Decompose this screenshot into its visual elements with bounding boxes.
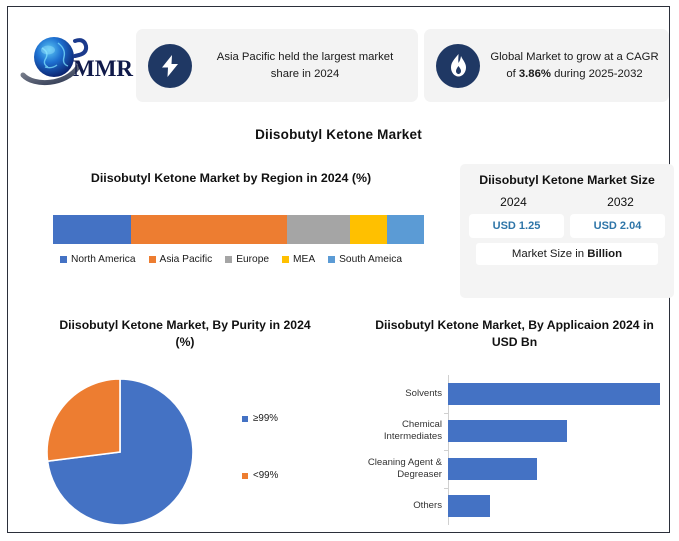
legend-swatch-icon xyxy=(149,256,156,263)
region-legend-item: South Ameica xyxy=(328,254,402,265)
region-segment-asia-pacific xyxy=(131,215,287,244)
region-legend-item: MEA xyxy=(282,254,315,265)
header-badge-market-share: Asia Pacific held the largest market sha… xyxy=(136,29,418,102)
region-legend-label: Europe xyxy=(236,254,269,265)
application-bar-label: Cleaning Agent & Degreaser xyxy=(360,457,448,481)
legend-swatch-icon xyxy=(242,416,248,422)
purity-legend-label: <99% xyxy=(253,470,278,481)
market-size-unit: Market Size in Billion xyxy=(476,243,658,265)
purity-chart-panel: Diisobutyl Ketone Market, By Purity in 2… xyxy=(20,317,350,539)
header: MMR Asia Pacific held the largest market… xyxy=(8,11,669,111)
market-size-year-end: 2032 xyxy=(607,195,634,209)
market-size-values: USD 1.25 USD 2.04 xyxy=(460,214,674,238)
application-bar-rows: SolventsChemical IntermediatesCleaning A… xyxy=(360,375,660,525)
application-bar-label: Solvents xyxy=(360,388,448,400)
application-bar-chart: SolventsChemical IntermediatesCleaning A… xyxy=(360,375,660,525)
region-legend-label: Asia Pacific xyxy=(160,254,213,265)
application-bar-label: Chemical Intermediates xyxy=(360,419,448,443)
application-chart-title: Diisobutyl Ketone Market, By Applicaion … xyxy=(352,317,677,351)
market-size-year-start: 2024 xyxy=(500,195,527,209)
purity-legend-item: <99% xyxy=(242,470,278,481)
region-stacked-bar xyxy=(53,215,424,244)
legend-swatch-icon xyxy=(60,256,67,263)
region-segment-north-america xyxy=(53,215,131,244)
region-legend-item: Asia Pacific xyxy=(149,254,213,265)
application-bar-row: Others xyxy=(360,493,660,519)
region-segment-south-ameica xyxy=(387,215,424,244)
lightning-bolt-icon xyxy=(148,44,192,88)
application-bar-row: Chemical Intermediates xyxy=(360,418,660,444)
region-segment-europe xyxy=(287,215,350,244)
application-bar-fill xyxy=(448,458,537,480)
region-legend-label: MEA xyxy=(293,254,315,265)
application-chart-panel: Diisobutyl Ketone Market, By Applicaion … xyxy=(352,317,677,539)
flame-icon xyxy=(436,44,480,88)
header-badge-market-share-text: Asia Pacific held the largest market sha… xyxy=(202,49,418,82)
region-segment-mea xyxy=(350,215,387,244)
infographic-frame: MMR Asia Pacific held the largest market… xyxy=(7,6,670,533)
axis-tick xyxy=(444,450,449,451)
region-chart-title: Diisobutyl Ketone Market by Region in 20… xyxy=(26,170,436,187)
page-title: Diisobutyl Ketone Market xyxy=(8,127,669,142)
legend-swatch-icon xyxy=(225,256,232,263)
pie-slice-1 xyxy=(47,379,120,461)
application-bar-row: Cleaning Agent & Degreaser xyxy=(360,456,660,482)
legend-swatch-icon xyxy=(242,473,248,479)
region-legend-label: South Ameica xyxy=(339,254,402,265)
market-size-card: Diisobutyl Ketone Market Size 2024 2032 … xyxy=(460,164,674,298)
purity-legend-item: ≥99% xyxy=(242,413,278,424)
purity-pie-chart xyxy=(44,377,199,527)
region-chart-legend: North AmericaAsia PacificEuropeMEASouth … xyxy=(26,254,436,265)
legend-swatch-icon xyxy=(282,256,289,263)
region-legend-item: North America xyxy=(60,254,136,265)
region-legend-item: Europe xyxy=(225,254,269,265)
application-bar-fill xyxy=(448,495,490,517)
market-size-value-end: USD 2.04 xyxy=(570,214,665,238)
application-bar-label: Others xyxy=(360,500,448,512)
market-size-unit-prefix: Market Size in xyxy=(512,248,587,260)
market-size-unit-bold: Billion xyxy=(587,248,622,260)
axis-tick xyxy=(444,413,449,414)
axis-tick xyxy=(444,488,449,489)
application-bar-fill xyxy=(448,383,660,405)
application-bar-row: Solvents xyxy=(360,381,660,407)
header-badge-cagr-text: Global Market to grow at a CAGR of 3.86%… xyxy=(490,49,669,82)
region-chart-panel: Diisobutyl Ketone Market by Region in 20… xyxy=(26,170,436,282)
purity-chart-legend: ≥99%<99% xyxy=(242,317,342,539)
cagr-value: 3.86% xyxy=(519,68,551,80)
market-size-years: 2024 2032 xyxy=(460,195,674,209)
market-size-title: Diisobutyl Ketone Market Size xyxy=(460,172,674,189)
region-legend-label: North America xyxy=(71,254,136,265)
cagr-text-after: during 2025-2032 xyxy=(551,68,643,80)
header-badge-cagr: Global Market to grow at a CAGR of 3.86%… xyxy=(424,29,669,102)
application-bar-fill xyxy=(448,420,567,442)
legend-swatch-icon xyxy=(328,256,335,263)
mmr-globe-logo: MMR xyxy=(20,31,135,91)
market-size-value-start: USD 1.25 xyxy=(469,214,564,238)
purity-legend-label: ≥99% xyxy=(253,413,278,424)
svg-text:MMR: MMR xyxy=(73,56,133,81)
